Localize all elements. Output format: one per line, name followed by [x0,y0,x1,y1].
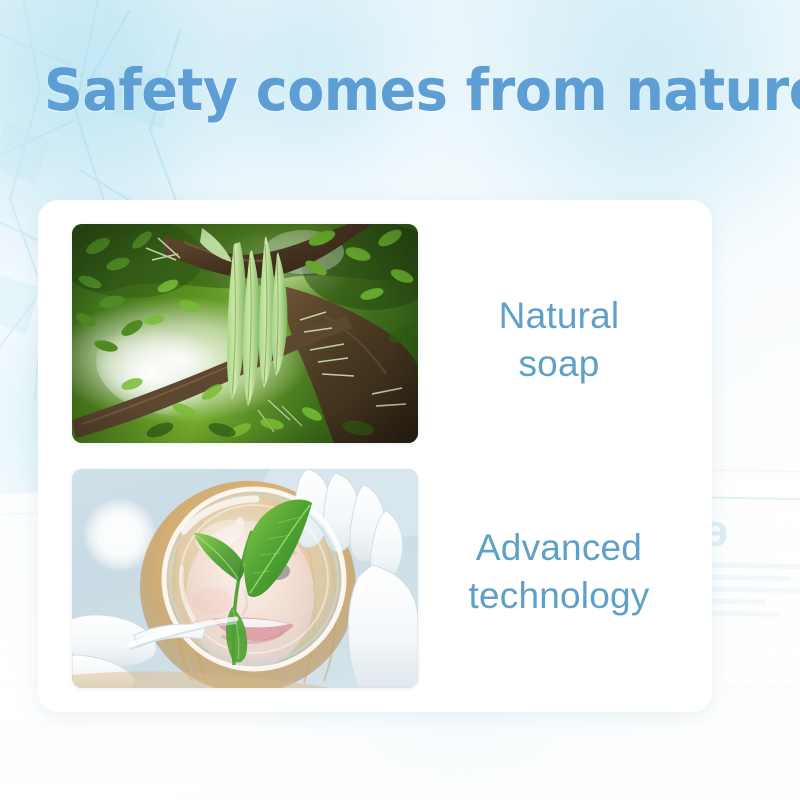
tree-seed-pods-photo [72,224,418,443]
feature-label-line2: soap [518,343,599,384]
feature-card: Natural soap Advanced technology [38,200,712,712]
page-title: Safety comes from nature [44,58,800,122]
feature-label-line1: Advanced [476,527,642,568]
feature-label-natural-soap: Natural soap [424,224,694,456]
feature-label-column: Natural soap Advanced technology [418,200,712,712]
lab-petri-dish-photo [72,469,418,688]
feature-label-advanced-technology: Advanced technology [424,456,694,688]
feature-photo-column [38,200,418,712]
feature-label-line1: Natural [499,295,620,336]
promo-banner: ●●● eve Safety comes from nature [0,0,800,800]
feature-label-line2: technology [469,575,650,616]
